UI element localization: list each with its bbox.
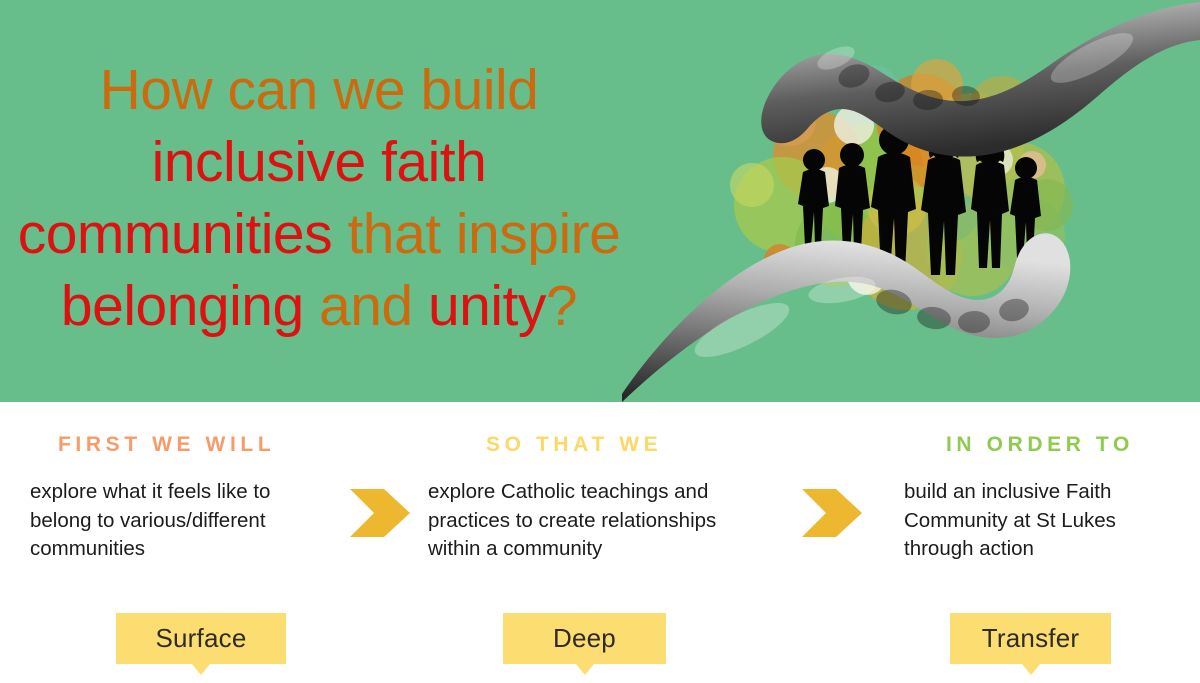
title-word: ? [546, 274, 577, 338]
title-word: communities [18, 202, 332, 266]
title-word: and [319, 274, 413, 338]
step-body-in-order-to: build an inclusive Faith Community at St… [904, 478, 1176, 564]
callout-deep[interactable]: Deep [503, 613, 666, 664]
callout-transfer-label: Transfer [982, 623, 1079, 654]
callout-deep-label: Deep [553, 623, 616, 654]
title-word: faith [381, 130, 486, 194]
title-word: can [227, 58, 317, 122]
callout-surface-label: Surface [155, 623, 246, 654]
title-word: that [347, 202, 440, 266]
hands-cupping-community-image [622, 0, 1200, 402]
eyebrow-wrap-2: SO THAT WE [424, 433, 662, 457]
hero-banner: How can we build inclusive faith communi… [0, 0, 1200, 402]
hero-title: How can we build inclusive faith communi… [0, 54, 638, 342]
chevron-right-icon-1 [348, 487, 412, 539]
title-word: inspire [456, 202, 620, 266]
title-word: inclusive [152, 130, 366, 194]
slide-root: How can we build inclusive faith communi… [0, 0, 1200, 683]
callout-transfer[interactable]: Transfer [950, 613, 1111, 664]
eyebrow-wrap-1: FIRST WE WILL [26, 433, 275, 457]
eyebrow-so-that-we: SO THAT WE [424, 433, 662, 457]
callout-surface[interactable]: Surface [116, 613, 286, 664]
eyebrow-first-we-will: FIRST WE WILL [26, 433, 275, 457]
eyebrow-wrap-3: IN ORDER TO [898, 433, 1134, 457]
title-word: unity [428, 274, 546, 338]
chevron-right-icon-2 [800, 487, 864, 539]
step-body-so-that: explore Catholic teachings and practices… [428, 478, 738, 564]
title-word: How [100, 58, 213, 122]
title-word: belonging [61, 274, 304, 338]
step-body-first: explore what it feels like to belong to … [30, 478, 320, 564]
eyebrow-in-order-to: IN ORDER TO [898, 433, 1134, 457]
title-word: we [333, 58, 405, 122]
title-word: build [420, 58, 538, 122]
